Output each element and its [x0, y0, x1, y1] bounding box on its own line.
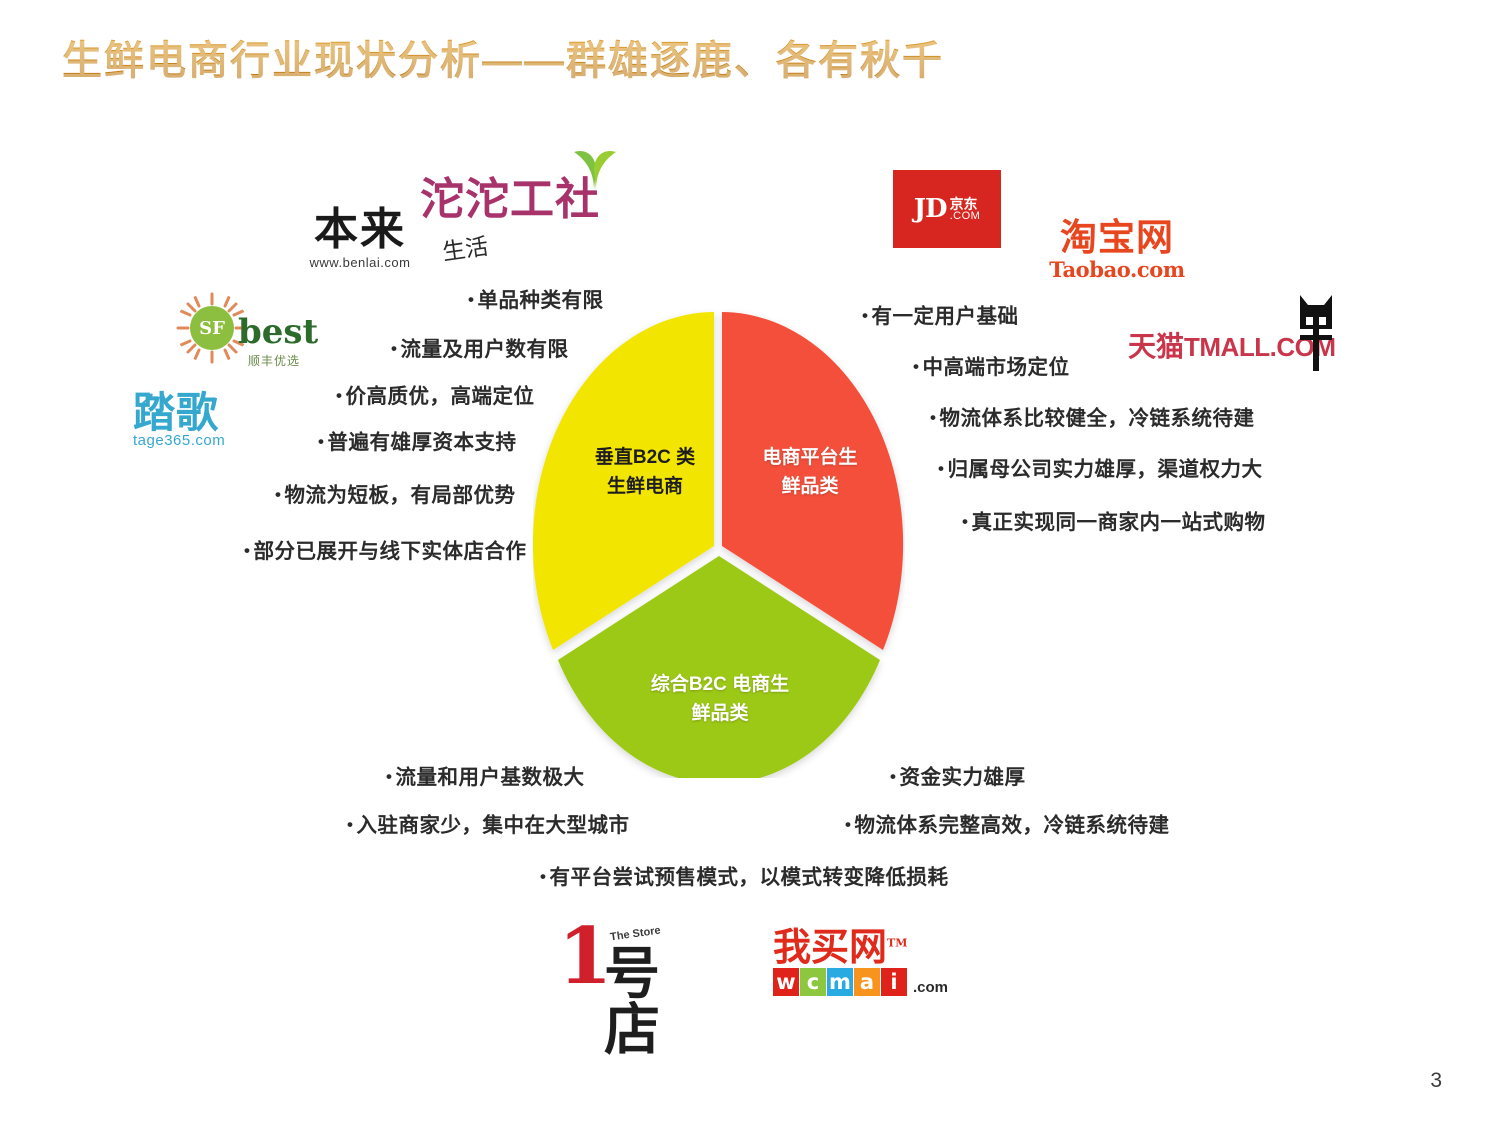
- bird-icon: ➚: [139, 386, 156, 411]
- pie-label-platform: 电商平台生 鲜品类: [740, 443, 880, 502]
- logo-benlai-cn: 本来: [280, 208, 440, 252]
- bullet-integrated-center-1: 有平台尝试预售模式，以模式转变降低损耗: [540, 860, 948, 890]
- bullet-vertical-1: 单品种类有限: [468, 283, 603, 313]
- logo-womai-letter-m: m: [827, 968, 853, 996]
- logo-jd-domain: .COM: [950, 211, 981, 222]
- page-title: 生鲜电商行业现状分析——群雄逐鹿、各有秋千: [62, 28, 944, 86]
- bullet-vertical-6: 部分已展开与线下实体店合作: [244, 534, 526, 564]
- bullet-integrated-left-1: 流量和用户基数极大: [386, 760, 584, 790]
- logo-benlai[interactable]: 本来 生活 www.benlai.com: [280, 208, 440, 270]
- logo-tootoo[interactable]: 沱沱工社: [420, 178, 600, 222]
- logo-womai-cn-wrap: 我买网TM: [773, 928, 953, 966]
- slide-root: 生鲜电商行业现状分析——群雄逐鹿、各有秋千 垂直B2C 类 生鲜电商 电商平台生…: [0, 0, 1500, 1125]
- bullet-vertical-5: 物流为短板，有局部优势: [275, 478, 515, 508]
- logo-sfbest-mark: SF: [190, 306, 234, 350]
- page-number: 3: [1430, 1069, 1442, 1093]
- logo-jd-cn: 京东: [950, 197, 981, 211]
- bullet-vertical-4: 普遍有雄厚资本支持: [318, 425, 516, 455]
- logo-sfbest-sub: 顺丰优选: [248, 352, 300, 369]
- logo-womai-letter-c: c: [800, 968, 826, 996]
- bullet-integrated-left-2: 入驻商家少，集中在大型城市: [347, 808, 629, 838]
- logo-tage[interactable]: ➚ 踏歌 tage365.com: [133, 392, 263, 449]
- logo-tmall[interactable]: 天猫TMALL.COM: [1128, 325, 1335, 365]
- logo-womai-blocks: w c m a i .com: [773, 968, 953, 996]
- logo-taobao[interactable]: 淘宝网 Taobao.com: [1037, 218, 1197, 282]
- logo-yihaodian[interactable]: 1 The Store 号店: [558, 920, 693, 1020]
- logo-womai-cn: 我买网: [773, 924, 887, 969]
- logo-jd-en: JD: [914, 194, 947, 224]
- bullet-integrated-right-1: 资金实力雄厚: [890, 760, 1025, 790]
- logo-taobao-en: Taobao.com: [1037, 257, 1197, 282]
- pie-label-vertical: 垂直B2C 类 生鲜电商: [560, 443, 730, 502]
- bullet-vertical-2: 流量及用户数有限: [391, 332, 568, 362]
- logo-womai-letter-a: a: [854, 968, 880, 996]
- logo-womai-tm: TM: [887, 936, 907, 949]
- cat-mascot-icon: [1296, 293, 1336, 371]
- bullet-integrated-right-2: 物流体系完整高效，冷链系统待建: [845, 808, 1169, 838]
- logo-benlai-hand: 生活: [440, 227, 490, 267]
- logo-tmall-cn: 天猫: [1128, 330, 1184, 363]
- bullet-vertical-3: 价高质优，高端定位: [336, 379, 534, 409]
- logo-womai[interactable]: 我买网TM w c m a i .com: [773, 928, 953, 996]
- logo-womai-domain: .com: [913, 979, 948, 996]
- bullet-platform-4: 归属母公司实力雄厚，渠道权力大: [938, 452, 1262, 482]
- logo-jd[interactable]: JD 京东 .COM: [893, 170, 1001, 248]
- bullet-platform-2: 中高端市场定位: [913, 350, 1069, 380]
- logo-sfbest-word: best: [238, 312, 318, 352]
- logo-taobao-cn: 淘宝网: [1037, 218, 1197, 257]
- pie-label-integrated: 综合B2C 电商生 鲜品类: [620, 670, 820, 729]
- logo-womai-letter-i: i: [881, 968, 907, 996]
- logo-benlai-url: www.benlai.com: [280, 255, 440, 270]
- logo-womai-letter-w: w: [773, 968, 799, 996]
- logo-tage-url: tage365.com: [133, 432, 263, 449]
- bullet-platform-3: 物流体系比较健全，冷链系统待建: [930, 401, 1254, 431]
- bullet-platform-1: 有一定用户基础: [862, 299, 1018, 329]
- leaf-sprout-icon: [572, 146, 618, 190]
- bullet-platform-5: 真正实现同一商家内一站式购物: [962, 505, 1265, 535]
- logo-yihaodian-cn: 号店: [604, 946, 693, 1058]
- logo-jd-right: 京东 .COM: [950, 197, 981, 222]
